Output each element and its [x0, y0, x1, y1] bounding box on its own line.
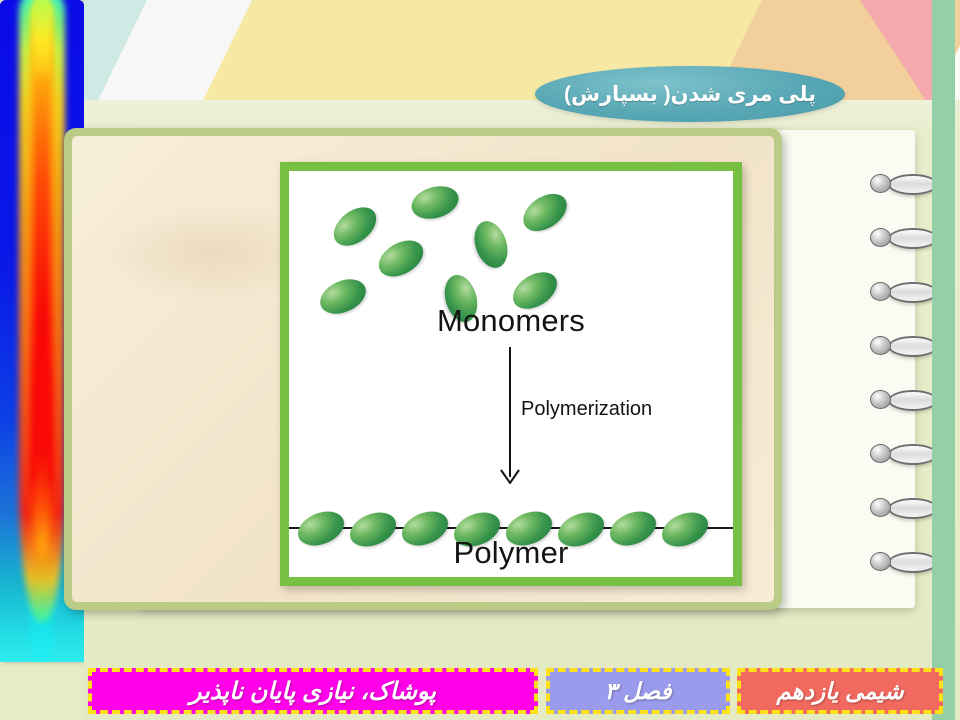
diagram-canvas: Monomers Polymerization Polymer	[289, 171, 733, 577]
tag-chemistry-label: شیمی یازدهم	[776, 678, 903, 705]
spiral-ring-icon	[870, 498, 934, 515]
tag-chemistry[interactable]: شیمی یازدهم	[737, 668, 943, 714]
tag-chapter[interactable]: فصل ۳	[546, 668, 730, 714]
monomer-ellipse	[327, 200, 384, 254]
tag-chapter-label: فصل ۳	[604, 678, 671, 705]
right-edge-strip	[932, 0, 955, 720]
plume-core	[35, 70, 49, 570]
slide-title-text: پلی مری شدن( بسپارش)	[564, 82, 816, 107]
slide-title-badge: پلی مری شدن( بسپارش)	[535, 66, 845, 122]
spiral-ring-icon	[870, 444, 934, 461]
corner-triangle-pink	[860, 0, 932, 110]
polymerization-label: Polymerization	[521, 398, 652, 421]
spiral-ring-icon	[870, 336, 934, 353]
slide-canvas: Monomers Polymerization Polymer پل	[0, 0, 960, 720]
monomer-ellipse	[408, 181, 463, 224]
polymerization-diagram: Monomers Polymerization Polymer	[280, 162, 742, 586]
polymerization-arrow-shaft	[509, 347, 511, 477]
spiral-ring-icon	[870, 282, 934, 299]
monomer-ellipse	[372, 233, 429, 284]
tag-subject-label: پوشاک، نیازی پایان ناپذیر	[190, 677, 436, 706]
spiral-ring-icon	[870, 390, 934, 407]
polymer-label: Polymer	[289, 535, 733, 571]
spiral-ring-icon	[870, 552, 934, 569]
tag-subject[interactable]: پوشاک، نیازی پایان ناپذیر	[88, 668, 538, 714]
arrow-head-icon	[500, 469, 520, 484]
spiral-ring-icon	[870, 228, 934, 245]
monomers-label: Monomers	[289, 303, 733, 339]
monomer-ellipse	[469, 217, 513, 272]
spiral-ring-icon	[870, 174, 934, 191]
monomer-ellipse	[516, 186, 573, 239]
